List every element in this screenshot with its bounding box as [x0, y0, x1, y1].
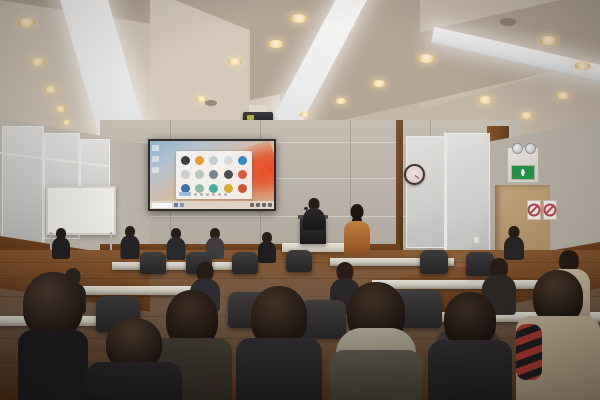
app-icon-4[interactable]	[224, 156, 233, 165]
downlight-14	[556, 92, 570, 99]
app-icon-6[interactable]	[181, 170, 190, 179]
downlight-2	[30, 58, 45, 66]
attendee-body	[86, 362, 182, 400]
launcher-dot-6[interactable]	[224, 193, 227, 196]
launcher-dot-5[interactable]	[218, 193, 221, 196]
attendee-body	[166, 237, 185, 260]
attendee-body	[258, 241, 276, 263]
left-window-mullion-1	[42, 128, 44, 244]
attendee-body	[428, 340, 512, 400]
app-icon-7[interactable]	[195, 170, 204, 179]
downlight-8	[418, 54, 435, 63]
attendee-near-hoodie	[330, 282, 422, 400]
chair-mid-5	[420, 250, 448, 274]
chair-mid-4	[286, 250, 312, 272]
attendee-body	[330, 350, 422, 400]
standing-attendee-coat	[344, 221, 370, 255]
wall-clock	[404, 164, 425, 185]
downlight-3	[44, 86, 57, 93]
desktop-icons	[152, 145, 164, 178]
downlight-7	[290, 14, 308, 23]
app-icon-2[interactable]	[195, 156, 204, 165]
desktop-icon-2[interactable]	[152, 156, 159, 162]
attendee-near-4	[86, 318, 182, 400]
attendee-far-4	[206, 228, 224, 256]
emergency-exit-light	[507, 147, 539, 183]
attendee-far-2	[120, 226, 139, 256]
launcher-dot-2[interactable]	[200, 193, 203, 196]
downlight-15	[540, 36, 557, 45]
projection-screen[interactable]	[148, 139, 276, 211]
no-smoking-icon	[528, 203, 541, 216]
attendee-red-stripe-sleeve	[516, 270, 600, 400]
attendee-body	[236, 338, 322, 400]
attendee-body	[18, 330, 88, 400]
app-icon-1[interactable]	[181, 156, 190, 165]
downlight-9	[372, 80, 386, 87]
wall-outlet	[473, 236, 480, 244]
launcher-dot-4[interactable]	[212, 193, 215, 196]
attendee-far-5	[258, 232, 276, 260]
attendee-near-1	[18, 272, 88, 400]
ceiling-vent-1	[205, 100, 217, 106]
app-icon-3[interactable]	[209, 156, 218, 165]
launcher-dot-1[interactable]	[194, 193, 197, 196]
taskbar-app-icon-2[interactable]	[180, 203, 184, 207]
right-glass-panel-1	[406, 136, 448, 248]
downlight-10	[335, 98, 347, 104]
attendee-striped-sleeve	[516, 324, 542, 380]
attendee-body	[504, 236, 524, 260]
front-wall-wood-trim	[396, 120, 403, 260]
row1-table-left	[112, 262, 242, 270]
prohibition-sign-left	[527, 200, 541, 220]
attendee-near-2	[236, 286, 322, 400]
app-icon-8[interactable]	[209, 170, 218, 179]
attendee-body	[52, 237, 70, 259]
exit-sign	[511, 165, 535, 180]
app-launcher-window[interactable]	[176, 151, 252, 199]
launcher-footer	[179, 191, 249, 197]
no-phone-icon	[544, 203, 557, 216]
attendee-far-3	[166, 228, 185, 257]
system-tray	[250, 203, 272, 207]
tray-volume-icon[interactable]	[256, 203, 260, 207]
ceiling-vent-2	[500, 18, 516, 26]
desktop-taskbar[interactable]	[150, 201, 274, 209]
tray-network-icon[interactable]	[250, 203, 254, 207]
app-icon-10[interactable]	[238, 170, 247, 179]
launcher-search-chip[interactable]	[179, 192, 191, 196]
projected-desktop	[150, 141, 274, 209]
downlight-4	[55, 106, 66, 112]
app-grid	[179, 155, 249, 196]
tray-clock-icon[interactable]	[268, 203, 272, 207]
downlight-11	[300, 112, 310, 117]
attendee-far-1	[52, 228, 70, 256]
emergency-lamp-right	[525, 143, 536, 154]
downlight-16	[575, 62, 590, 70]
taskbar-search-input[interactable]	[152, 203, 172, 208]
attendee-head	[23, 272, 83, 338]
desktop-icon-1[interactable]	[152, 145, 159, 151]
downlight-13	[520, 112, 533, 119]
attendee-far-6	[504, 226, 524, 256]
downlight-17	[228, 58, 242, 65]
taskbar-app-icon-1[interactable]	[174, 203, 178, 207]
app-icon-9[interactable]	[224, 170, 233, 179]
exit-sign-green-panel	[512, 166, 534, 179]
standing-attendee-camel-coat	[344, 204, 370, 252]
downlight-5	[62, 120, 71, 125]
prohibition-sign-right	[543, 200, 557, 220]
presenter-at-podium	[303, 198, 325, 228]
seminar-room-photo: Seminar room lecture with projected desk…	[0, 0, 600, 400]
emergency-lamp-left	[512, 143, 523, 154]
app-icon-5[interactable]	[238, 156, 247, 165]
attendee-near-3	[428, 292, 512, 400]
downlight-1	[18, 18, 35, 27]
chair-mid-1	[140, 252, 166, 274]
left-glass-panel-1	[2, 126, 44, 246]
tray-battery-icon[interactable]	[262, 203, 266, 207]
desktop-icon-3[interactable]	[152, 167, 159, 173]
presenter-body	[303, 208, 325, 230]
downlight-6	[268, 40, 284, 48]
chair-mid-3	[232, 252, 258, 274]
downlight-12	[478, 96, 493, 104]
attendee-body	[120, 235, 139, 259]
running-man-icon	[521, 169, 525, 176]
launcher-dot-3[interactable]	[206, 193, 209, 196]
right-glass-panel-2	[446, 133, 490, 251]
right-window-mullion	[444, 132, 446, 250]
whiteboard-leg-right	[110, 232, 112, 250]
